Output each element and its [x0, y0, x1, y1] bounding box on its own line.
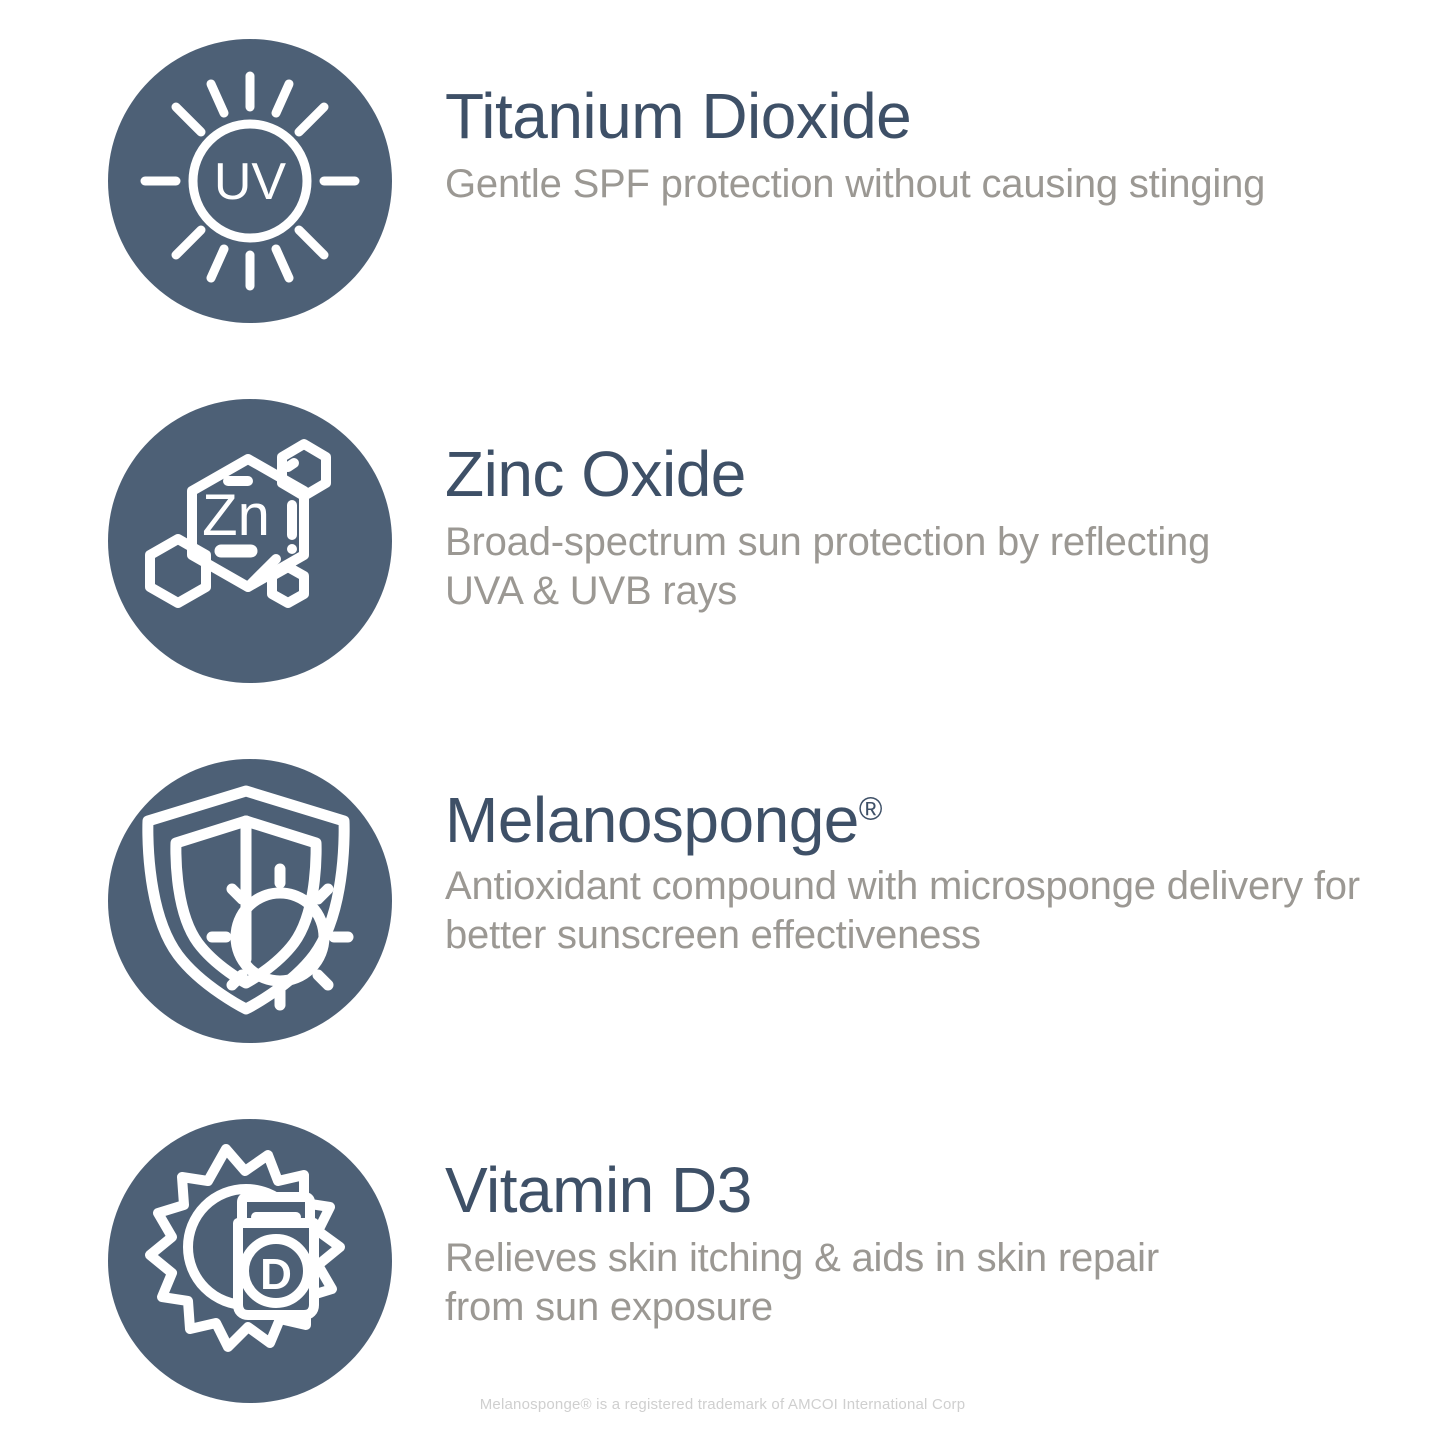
registered-trademark-symbol: ®	[859, 791, 882, 827]
feature-row: Melanosponge® Antioxidant compound with …	[0, 750, 1445, 1050]
uv-sun-icon: UV	[108, 39, 392, 323]
feature-description: Gentle SPF protection without causing st…	[445, 160, 1325, 209]
uv-icon-label: UV	[214, 153, 287, 211]
feature-text-block: Titanium Dioxide Gentle SPF protection w…	[445, 84, 1325, 209]
feature-title-text: Melanosponge	[445, 784, 859, 856]
feature-title: Zinc Oxide	[445, 442, 1245, 506]
feature-text-block: Zinc Oxide Broad-spectrum sun protection…	[445, 442, 1245, 616]
trademark-footnote: Melanosponge® is a registered trademark …	[0, 1396, 1445, 1413]
feature-title-text: Vitamin D3	[445, 1154, 752, 1226]
feature-title-text: Zinc Oxide	[445, 438, 746, 510]
zn-icon-label: Zn	[202, 483, 270, 548]
zinc-molecule-icon: Zn	[108, 399, 392, 683]
feature-description: Relieves skin itching & aids in skin rep…	[445, 1234, 1205, 1332]
feature-title: Melanosponge®	[445, 788, 1405, 852]
feature-row: Zn Zinc Oxide Broad-spectrum sun protect…	[0, 390, 1445, 690]
shield-sun-icon	[108, 759, 392, 1043]
feature-list: UV Titanium Dioxide Gentle SPF protectio…	[0, 0, 1445, 1445]
feature-title: Titanium Dioxide	[445, 84, 1325, 148]
feature-text-block: Vitamin D3 Relieves skin itching & aids …	[445, 1158, 1205, 1332]
feature-text-block: Melanosponge® Antioxidant compound with …	[445, 788, 1405, 960]
feature-description: Antioxidant compound with microsponge de…	[445, 862, 1405, 960]
feature-row: D Vitamin D3 Relieves skin itching & aid…	[0, 1110, 1445, 1410]
d-icon-label: D	[260, 1250, 292, 1299]
feature-description: Broad-spectrum sun protection by reflect…	[445, 518, 1245, 616]
feature-title: Vitamin D3	[445, 1158, 1205, 1222]
feature-title-text: Titanium Dioxide	[445, 80, 911, 152]
feature-row: UV Titanium Dioxide Gentle SPF protectio…	[0, 30, 1445, 330]
sun-supplement-bottle-icon: D	[108, 1119, 392, 1403]
